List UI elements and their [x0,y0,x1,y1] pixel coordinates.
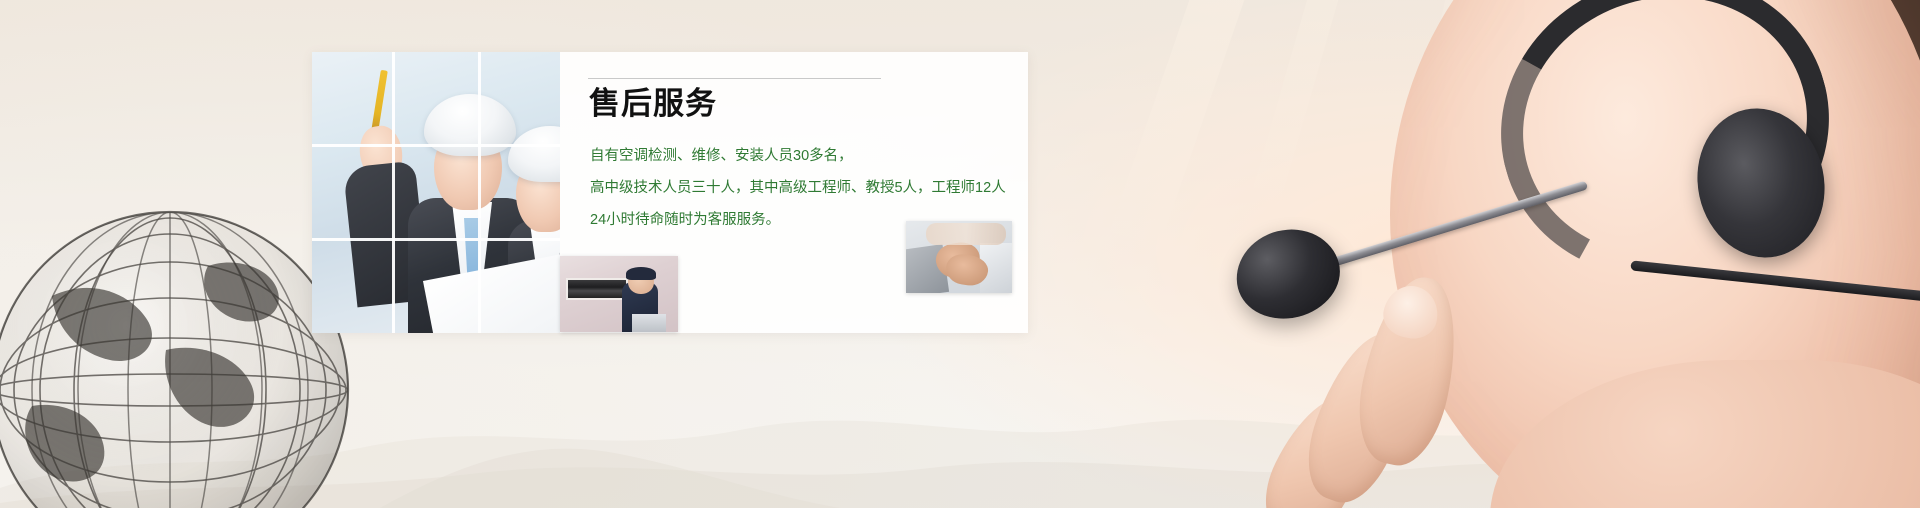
description-line: 高中级技术人员三十人，其中高级工程师、教授5人，工程师12人 [590,172,1020,204]
grid-line-horizontal [312,144,560,147]
grid-line-horizontal [312,238,560,241]
after-sales-service-banner: 售后服务 自有空调检测、维修、安装人员30多名， 高中级技术人员三十人，其中高级… [0,0,1920,508]
grid-line-vertical [392,52,395,333]
grid-line-vertical [478,52,481,333]
content-card: 售后服务 自有空调检测、维修、安装人员30多名， 高中级技术人员三十人，其中高级… [312,52,1028,333]
page-title: 售后服务 [589,88,717,119]
headset-operator-photo [1160,0,1920,508]
description-line: 24小时待命随时为客服服务。 [590,204,1020,236]
title-divider [588,78,881,79]
description-line: 自有空调检测、维修、安装人员30多名， [590,140,1020,172]
engineers-photo [312,52,560,333]
description-paragraphs: 自有空调检测、维修、安装人员30多名， 高中级技术人员三十人，其中高级工程师、教… [590,140,1020,236]
pencil-icon [371,70,388,132]
microphone-icon [1227,219,1349,330]
text-block: 售后服务 自有空调检测、维修、安装人员30多名， 高中级技术人员三十人，其中高级… [588,52,1028,333]
